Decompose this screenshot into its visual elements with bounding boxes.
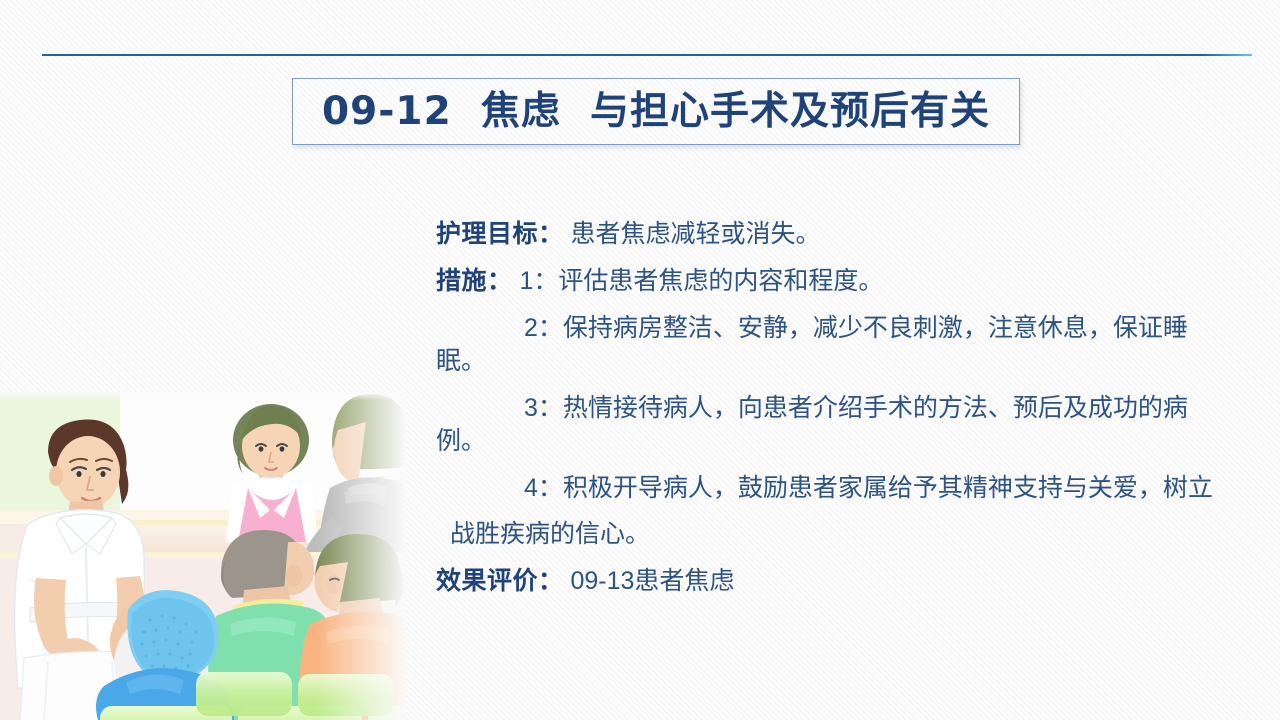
content-line-effect-evaluation: 效果评价： 09-13患者焦虑 [436,565,1218,598]
text-nursing-goal: 患者焦虑减轻或消失。 [564,220,821,248]
content-line-measures-3: 3：热情接待病人，向患者介绍手术的方法、预后及成功的病例。 [436,392,1218,458]
label-nursing-goal: 护理目标： [436,220,564,248]
content-line-measures-2: 2：保持病房整洁、安静，减少不良刺激，注意休息，保证睡眠。 [436,312,1218,378]
label-measures: 措施： [436,267,513,295]
text-measures-4-cont: 战胜疾病的信心。 [450,520,650,548]
page-title: 09-12 焦虑 与担心手术及预后有关 [322,92,990,131]
content-line-measures-1: 措施： 1：评估患者焦虑的内容和程度。 [436,265,1218,298]
content-line-measures-4: 4：积极开导病人，鼓励患者家属给予其精神支持与关爱，树立 [436,472,1218,505]
title-box: 09-12 焦虑 与担心手术及预后有关 [292,78,1020,145]
content-body: 护理目标： 患者焦虑减轻或消失。 措施： 1：评估患者焦虑的内容和程度。 2：保… [436,218,1218,612]
header-divider-rule [42,54,1252,56]
content-line-measures-4-cont: 战胜疾病的信心。 [436,518,1218,551]
label-effect-evaluation: 效果评价： [436,567,564,595]
text-measures-3: 3：热情接待病人，向患者介绍手术的方法、预后及成功的病例。 [436,394,1188,455]
slide-canvas: 09-12 焦虑 与担心手术及预后有关 护理目标： 患者焦虑减轻或消失。 措施：… [0,0,1280,720]
text-effect-evaluation: 09-13患者焦虑 [564,567,735,595]
text-measures-4: 4：积极开导病人，鼓励患者家属给予其精神支持与关爱，树立 [524,474,1213,502]
hospital-waiting-room-illustration [0,392,406,720]
content-line-nursing-goal: 护理目标： 患者焦虑减轻或消失。 [436,218,1218,251]
text-measures-2: 2：保持病房整洁、安静，减少不良刺激，注意休息，保证睡眠。 [436,314,1188,375]
text-measures-1: 1：评估患者焦虑的内容和程度。 [513,267,884,295]
